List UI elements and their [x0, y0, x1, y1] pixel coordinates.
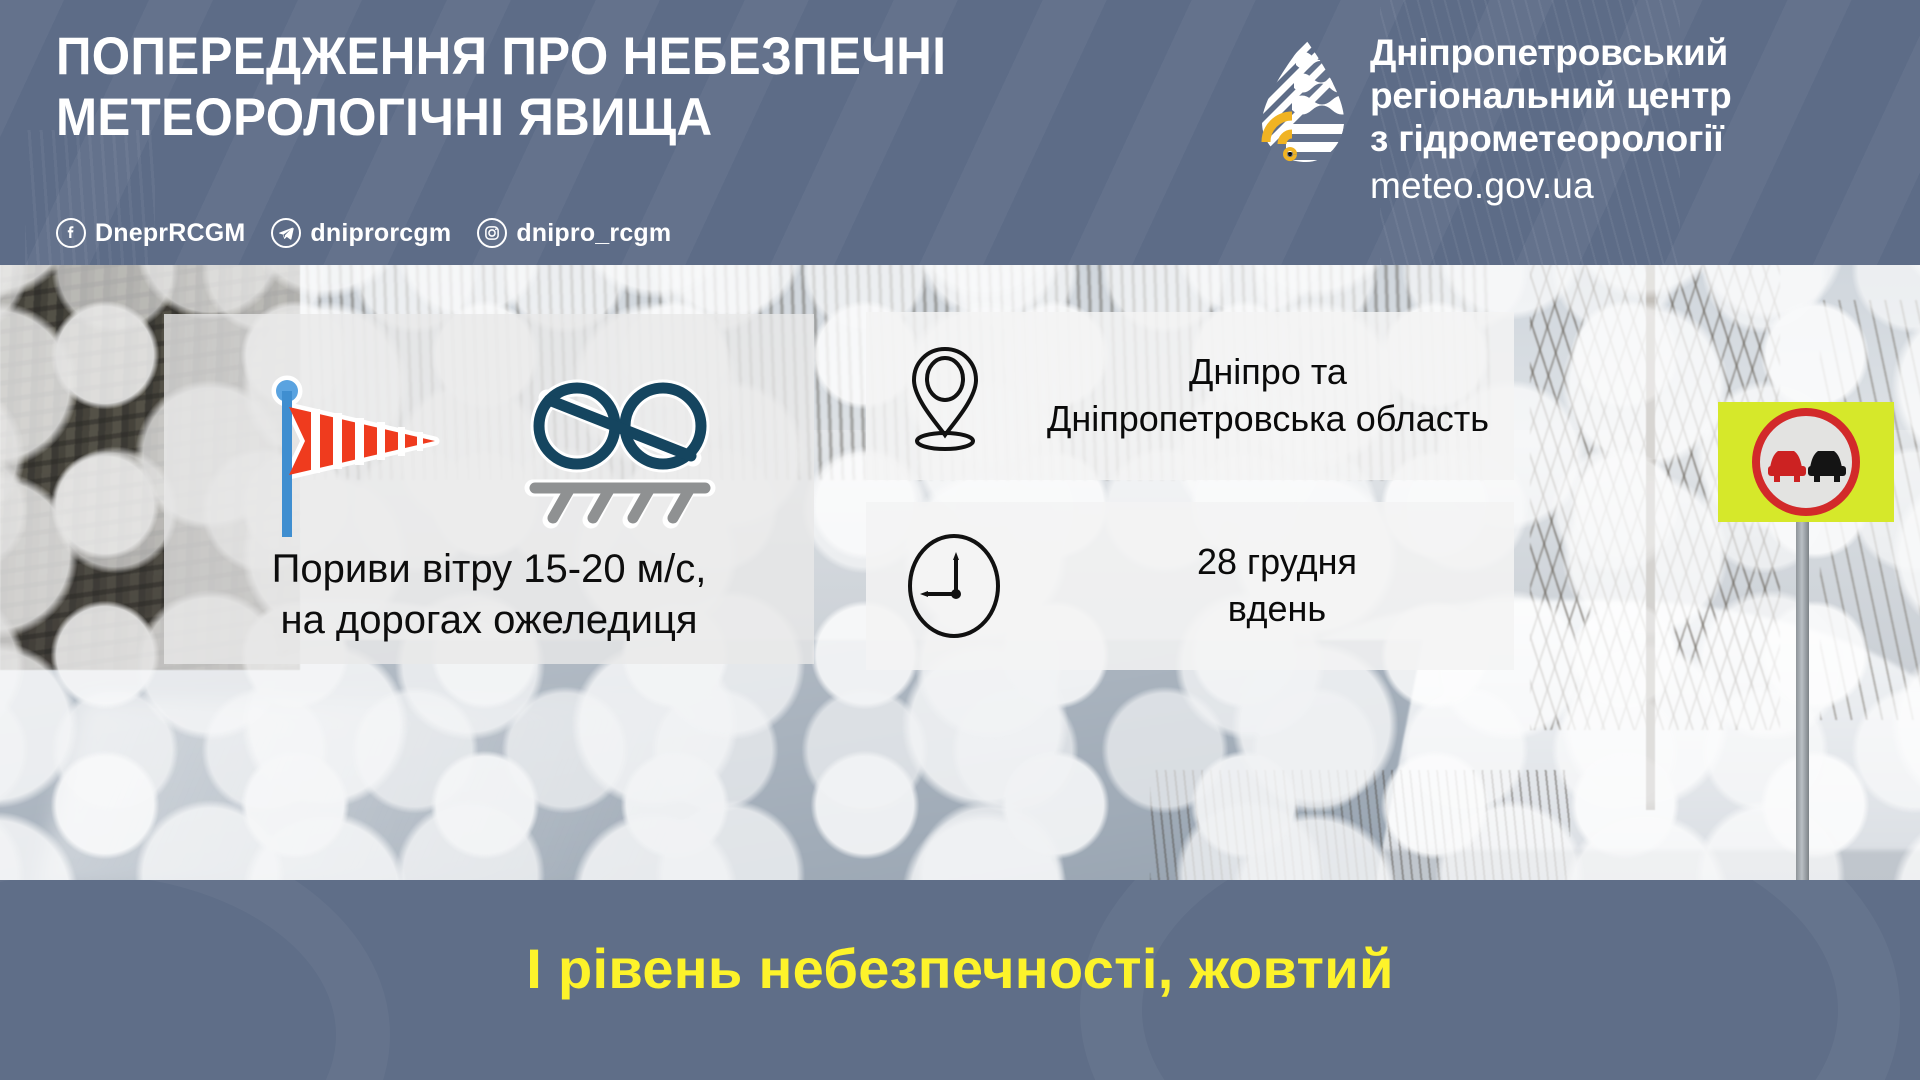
sign-post — [1796, 520, 1809, 890]
glaze-ice-icon — [515, 368, 725, 538]
map-pin-icon — [902, 341, 988, 451]
wind-pennant-icon — [253, 369, 453, 537]
logo-line-1: Дніпропетровський — [1370, 32, 1732, 75]
footer-banner: І рівень небезпечності, жовтий — [0, 880, 1920, 1080]
social-links: DneprRCGM dniprorcgm dnipro_rcgm — [56, 218, 671, 248]
clock-icon — [902, 528, 1006, 644]
warning-description: Пориви вітру 15-20 м/с, на дорогах ожеле… — [272, 544, 707, 646]
logo-text-block: Дніпропетровський регіональний центр з г… — [1370, 32, 1732, 207]
social-link-telegram[interactable]: dniprorcgm — [271, 218, 451, 248]
social-link-facebook[interactable]: DneprRCGM — [56, 218, 245, 248]
location-text: Дніпро та Дніпропетровська область — [1022, 349, 1514, 443]
facebook-icon — [56, 218, 86, 248]
location-card: Дніпро та Дніпропетровська область — [866, 312, 1514, 480]
social-label-instagram: dnipro_rcgm — [516, 219, 671, 248]
weather-warning-card: Пориви вітру 15-20 м/с, на дорогах ожеле… — [164, 314, 814, 664]
organization-logo[interactable]: Дніпропетровський регіональний центр з г… — [1252, 32, 1732, 207]
infographic-root: ПОПЕРЕДЖЕННЯ ПРО НЕБЕЗПЕЧНІ МЕТЕОРОЛОГІЧ… — [0, 0, 1920, 1080]
danger-level-label: І рівень небезпечності, жовтий — [0, 936, 1920, 1001]
header-banner: ПОПЕРЕДЖЕННЯ ПРО НЕБЕЗПЕЧНІ МЕТЕОРОЛОГІЧ… — [0, 0, 1920, 265]
droplet-logo-icon — [1252, 38, 1348, 164]
sign-face — [1718, 402, 1894, 522]
logo-website-url[interactable]: meteo.gov.ua — [1370, 165, 1732, 207]
social-link-instagram[interactable]: dnipro_rcgm — [477, 218, 671, 248]
warning-icons-row — [253, 368, 725, 538]
telegram-icon — [271, 218, 301, 248]
instagram-icon — [477, 218, 507, 248]
logo-line-2: регіональний центр — [1370, 75, 1732, 118]
date-card: 28 грудня вдень — [866, 502, 1514, 670]
social-label-facebook: DneprRCGM — [95, 219, 245, 248]
no-overtaking-sign-icon — [1718, 402, 1894, 594]
page-title: ПОПЕРЕДЖЕННЯ ПРО НЕБЕЗПЕЧНІ МЕТЕОРОЛОГІЧ… — [56, 26, 1153, 149]
social-label-telegram: dniprorcgm — [310, 219, 451, 248]
logo-line-3: з гідрометеорології — [1370, 118, 1732, 161]
date-text: 28 грудня вдень — [1040, 539, 1514, 633]
